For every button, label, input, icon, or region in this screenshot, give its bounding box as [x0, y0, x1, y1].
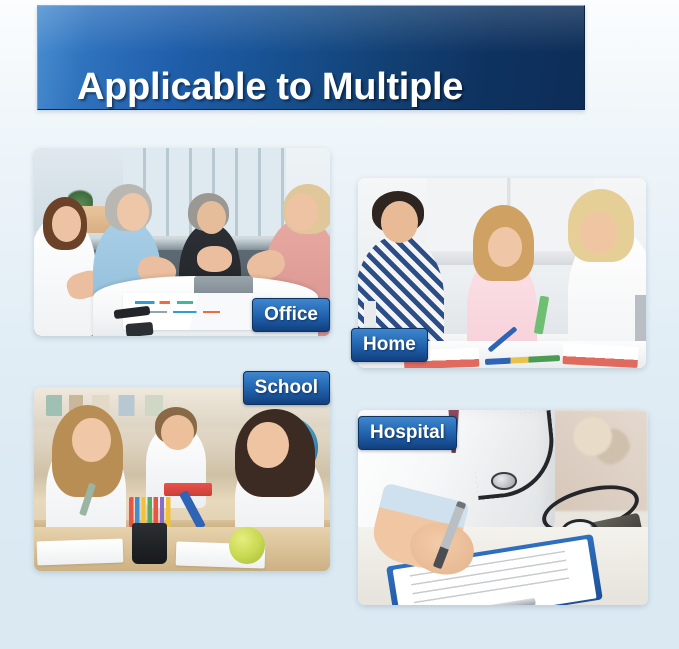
- office-person-4-head: [286, 193, 319, 231]
- badge-home[interactable]: Home: [351, 328, 428, 362]
- promo-page: Applicable to Multiple Scenarios: [0, 0, 679, 649]
- badge-office[interactable]: Office: [252, 298, 330, 332]
- home-notebook-right: [562, 343, 638, 368]
- school-apple: [229, 527, 265, 564]
- school-girl-left-head: [72, 418, 110, 462]
- school-notebook-left: [37, 538, 124, 565]
- school-boy-head: [161, 415, 194, 450]
- office-smartphone-2: [125, 322, 153, 336]
- scenario-card-hospital: Hospital: [358, 410, 648, 605]
- page-title-line-1: Applicable to Multiple: [77, 66, 463, 108]
- school-photo: [34, 387, 330, 571]
- scenario-card-home: Home: [358, 178, 646, 368]
- hospital-flowers: [567, 416, 631, 467]
- header-banner: Applicable to Multiple Scenarios: [37, 5, 585, 110]
- page-title: Applicable to Multiple Scenarios: [38, 6, 584, 110]
- badge-school[interactable]: School: [243, 371, 330, 405]
- office-person-1-head: [52, 206, 82, 242]
- scenario-card-office: Office: [34, 148, 330, 336]
- office-person-3-hands: [197, 246, 233, 272]
- home-girl-head: [488, 227, 523, 267]
- school-pencil-cup: [132, 523, 168, 563]
- home-mother-head: [580, 212, 617, 254]
- home-father-head: [381, 201, 418, 243]
- office-person-2-head: [117, 193, 150, 231]
- school-scene: [34, 387, 330, 571]
- badge-hospital[interactable]: Hospital: [358, 416, 457, 450]
- scenario-card-school: School: [34, 387, 330, 571]
- school-girl-right-head: [247, 422, 288, 468]
